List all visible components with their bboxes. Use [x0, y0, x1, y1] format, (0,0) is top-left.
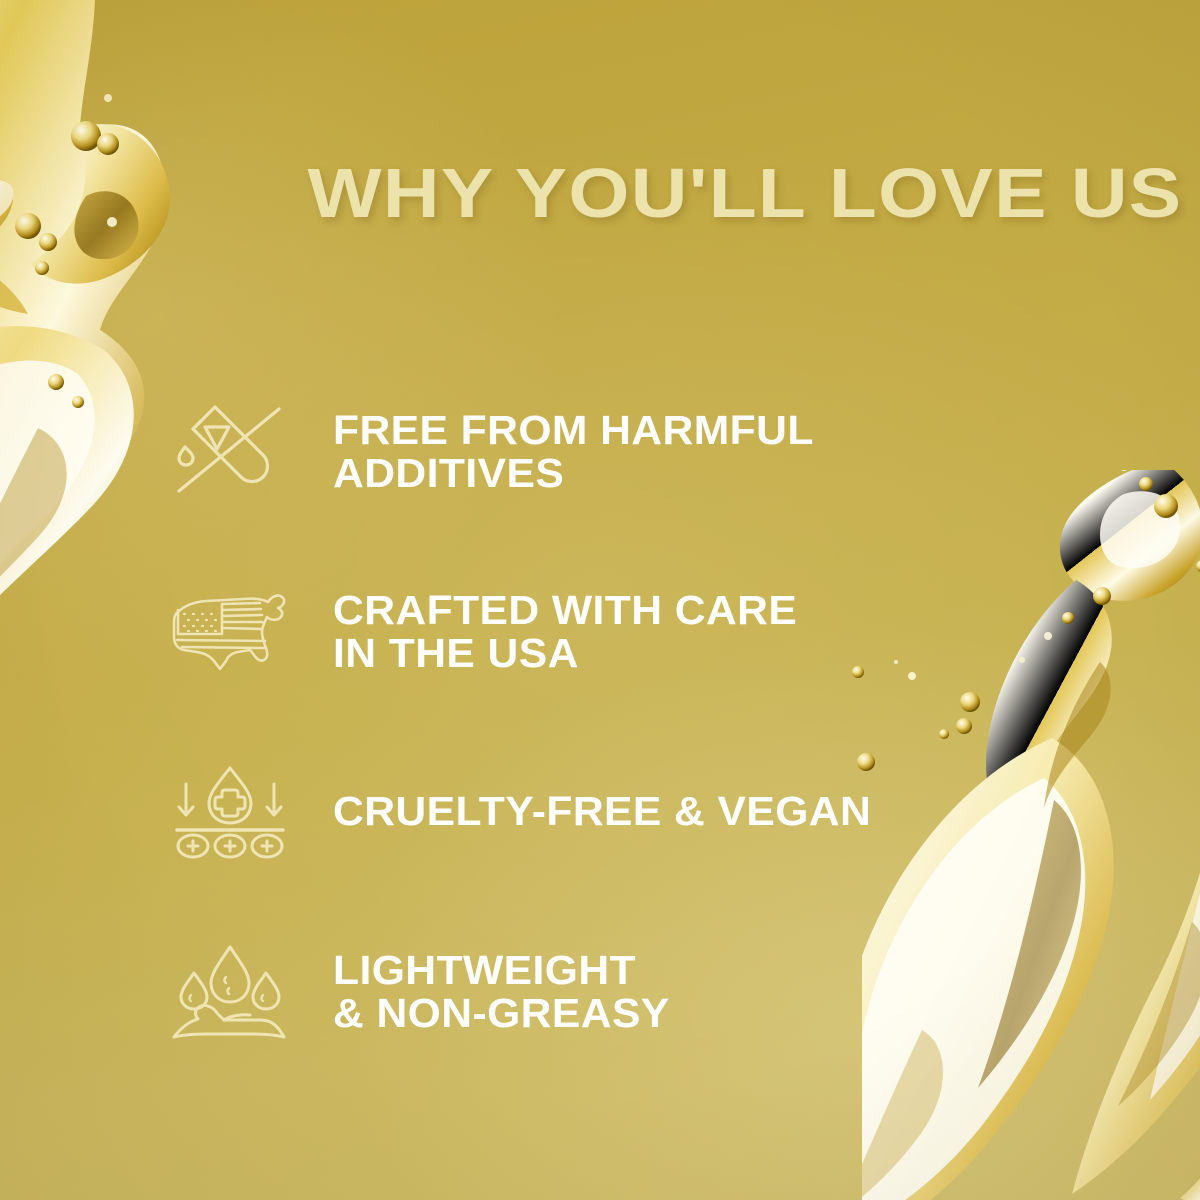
benefit-label: FREE FROM HARMFUL ADDITIVES [333, 409, 1123, 496]
no-additives-test-tube-icon [168, 400, 292, 504]
benefits-list: FREE FROM HARMFUL ADDITIVES [0, 362, 1200, 1082]
page-title: WHY YOU'LL LOVE US [280, 158, 1200, 228]
droplet-absorption-icon [168, 760, 292, 864]
benefit-row-lightweight-and-non-greasy: LIGHTWEIGHT & NON-GREASY [0, 902, 1200, 1082]
benefit-row-free-from-harmful-additives: FREE FROM HARMFUL ADDITIVES [0, 362, 1200, 542]
promo-graphic: WHY YOU'LL LOVE US FREE F [0, 0, 1200, 1200]
benefit-row-cruelty-free-and-vegan: CRUELTY-FREE & VEGAN [0, 722, 1200, 902]
hand-with-droplets-icon [168, 940, 292, 1044]
benefit-label: LIGHTWEIGHT & NON-GREASY [333, 949, 1123, 1036]
usa-flag-map-icon [168, 580, 292, 684]
benefit-row-crafted-with-care-in-the-usa: CRAFTED WITH CARE IN THE USA [0, 542, 1200, 722]
benefit-label: CRUELTY-FREE & VEGAN [333, 790, 1123, 833]
benefit-label: CRAFTED WITH CARE IN THE USA [333, 589, 1123, 676]
